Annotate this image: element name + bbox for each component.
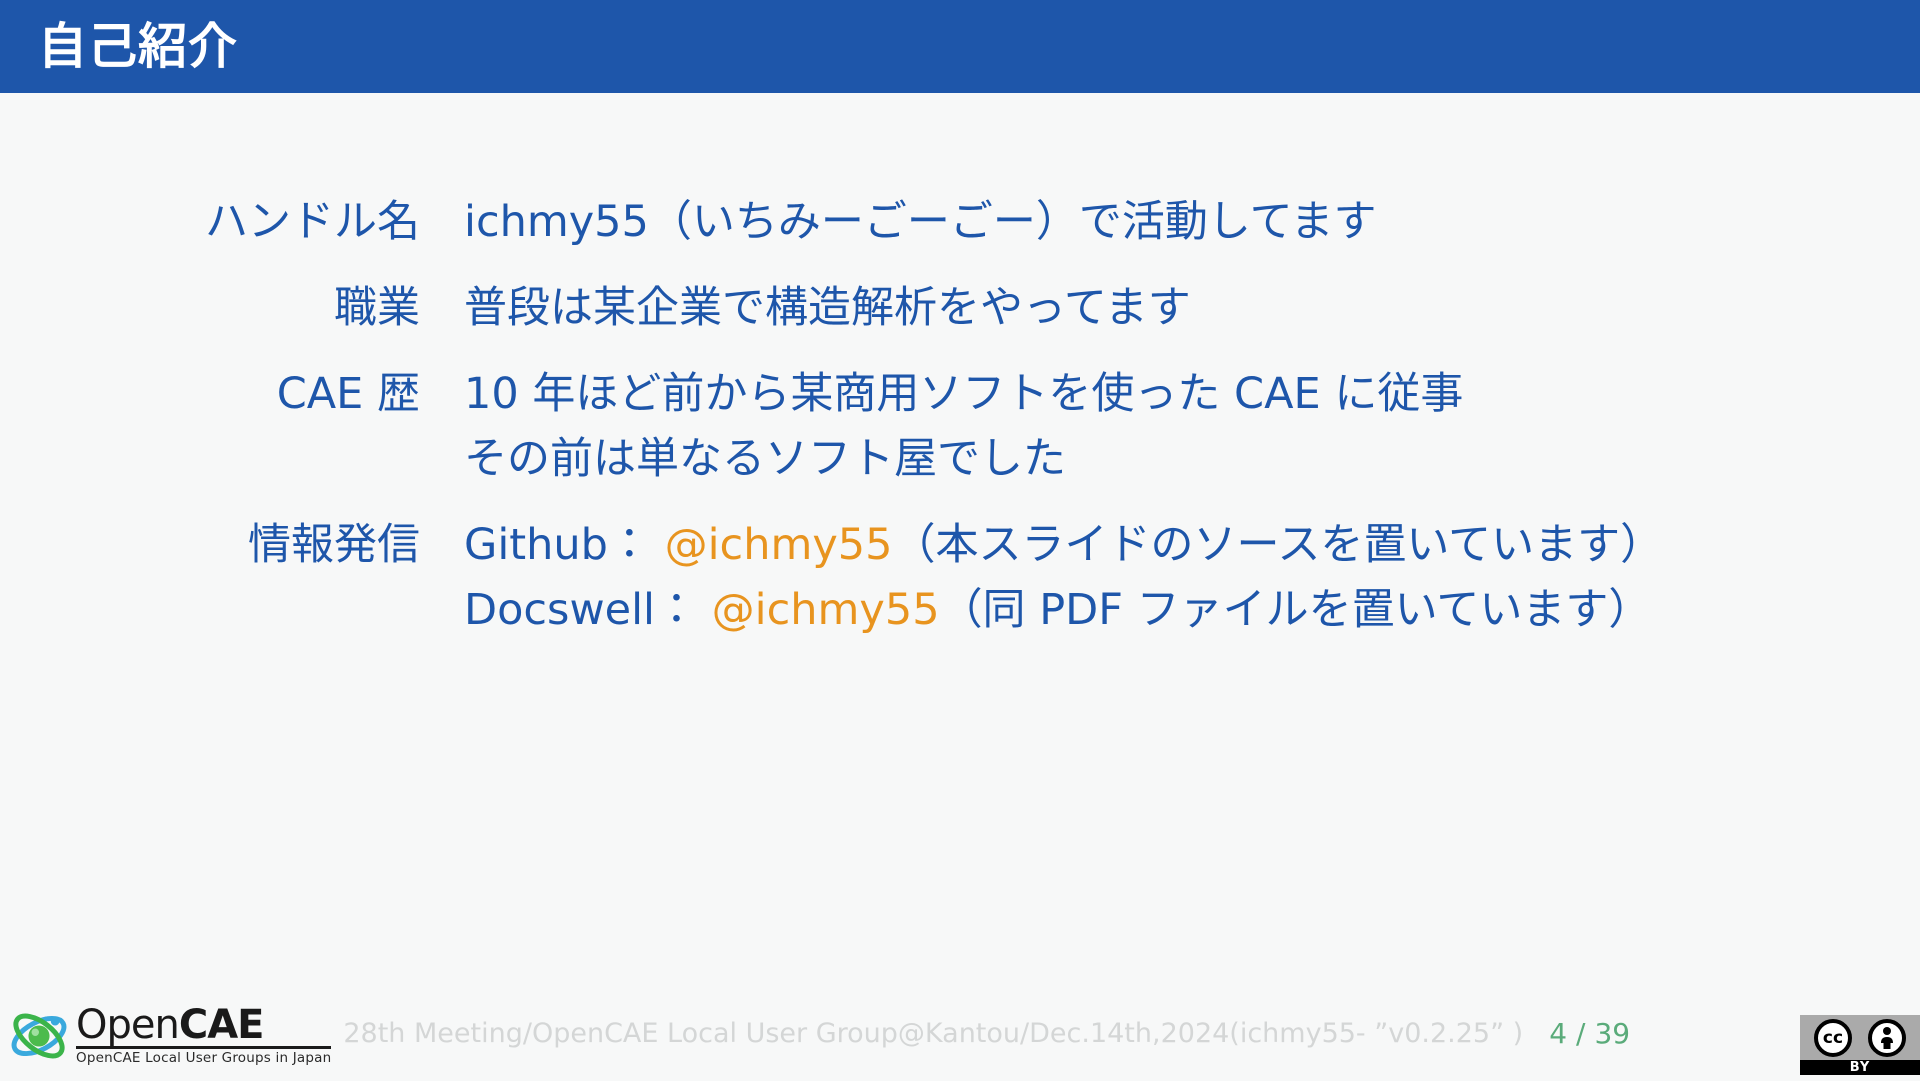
opencae-name-light: Open bbox=[76, 1002, 179, 1048]
profile-definition-table: ハンドル名ichmy55（いちみーごーごー）で活動してます職業普段は某企業で構造… bbox=[0, 201, 1920, 632]
page-total: 39 bbox=[1594, 1020, 1630, 1048]
profile-row-spacer bbox=[0, 244, 1920, 287]
cc-badge-icons: cc bbox=[1800, 1015, 1920, 1060]
page-current: 4 bbox=[1549, 1020, 1567, 1048]
opencae-logo: OpenCAE OpenCAE Local User Groups in Jap… bbox=[8, 1005, 331, 1067]
profile-text-segment: （同 PDF ファイルを置いています） bbox=[940, 585, 1652, 635]
profile-description: Github： @ichmy55（本スライドのソースを置いています）Docswe… bbox=[420, 524, 1920, 632]
profile-text-segment: Github： bbox=[464, 520, 665, 570]
profile-text-segment: （本スライドのソースを置いています） bbox=[893, 520, 1664, 570]
profile-row: CAE 歴10 年ほど前から某商用ソフトを使った CAE に従事その前は単なるソ… bbox=[0, 373, 1920, 481]
creative-commons-badge: cc BY bbox=[1800, 1015, 1920, 1075]
profile-handle-link[interactable]: @ichmy55 bbox=[665, 520, 893, 570]
profile-description: ichmy55（いちみーごーごー）で活動してます bbox=[420, 201, 1920, 244]
profile-row: 情報発信Github： @ichmy55（本スライドのソースを置いています）Do… bbox=[0, 524, 1920, 632]
cc-attribution-person-icon bbox=[1868, 1019, 1906, 1057]
profile-description-line: Docswell： @ichmy55（同 PDF ファイルを置いています） bbox=[464, 589, 1920, 632]
profile-text-segment: その前は単なるソフト屋でした bbox=[464, 434, 1066, 484]
opencae-name-bold: CAE bbox=[179, 1002, 264, 1048]
person-glyph bbox=[1877, 1026, 1897, 1050]
profile-term: CAE 歴 bbox=[0, 373, 420, 481]
profile-row: 職業普段は某企業で構造解析をやってます bbox=[0, 287, 1920, 330]
cc-badge-label: BY bbox=[1800, 1060, 1920, 1075]
page-title: 自己紹介 bbox=[38, 22, 238, 71]
profile-term: 情報発信 bbox=[0, 524, 420, 632]
slide-content: ハンドル名ichmy55（いちみーごーごー）で活動してます職業普段は某企業で構造… bbox=[0, 93, 1920, 990]
footer-pagination: 4 / 39 bbox=[1549, 1020, 1630, 1052]
profile-term: 職業 bbox=[0, 287, 420, 330]
footer-meeting-info: 28th Meeting/OpenCAE Local User Group@Ka… bbox=[343, 1020, 1523, 1051]
profile-text-segment: 普段は某企業で構造解析をやってます bbox=[464, 283, 1191, 333]
profile-text-segment: ichmy55（いちみーごーごー）で活動してます bbox=[464, 197, 1376, 247]
profile-text-segment: Docswell： bbox=[464, 585, 712, 635]
profile-row-spacer bbox=[0, 330, 1920, 373]
opencae-tagline: OpenCAE Local User Groups in Japan bbox=[76, 1052, 331, 1066]
profile-description: 10 年ほど前から某商用ソフトを使った CAE に従事その前は単なるソフト屋でし… bbox=[420, 373, 1920, 481]
profile-term: ハンドル名 bbox=[0, 201, 420, 244]
profile-description-line: 普段は某企業で構造解析をやってます bbox=[464, 287, 1920, 330]
profile-row-spacer bbox=[0, 481, 1920, 524]
profile-description-line: その前は単なるソフト屋でした bbox=[464, 438, 1920, 481]
profile-row: ハンドル名ichmy55（いちみーごーごー）で活動してます bbox=[0, 201, 1920, 244]
slide-footer: OpenCAE OpenCAE Local User Groups in Jap… bbox=[0, 990, 1920, 1081]
profile-description: 普段は某企業で構造解析をやってます bbox=[420, 287, 1920, 330]
opencae-name: OpenCAE bbox=[76, 1005, 331, 1049]
profile-description-line: ichmy55（いちみーごーごー）で活動してます bbox=[464, 201, 1920, 244]
profile-handle-link[interactable]: @ichmy55 bbox=[712, 585, 940, 635]
opencae-wordmark: OpenCAE OpenCAE Local User Groups in Jap… bbox=[76, 1005, 331, 1066]
profile-description-line: Github： @ichmy55（本スライドのソースを置いています） bbox=[464, 524, 1920, 567]
cc-logo-icon: cc bbox=[1814, 1019, 1852, 1057]
profile-description-line: 10 年ほど前から某商用ソフトを使った CAE に従事 bbox=[464, 373, 1920, 416]
slide-header: 自己紹介 bbox=[0, 0, 1920, 93]
profile-text-segment: 10 年ほど前から某商用ソフトを使った CAE に従事 bbox=[464, 369, 1463, 419]
page-separator: / bbox=[1576, 1020, 1585, 1048]
atom-icon bbox=[8, 1005, 70, 1067]
